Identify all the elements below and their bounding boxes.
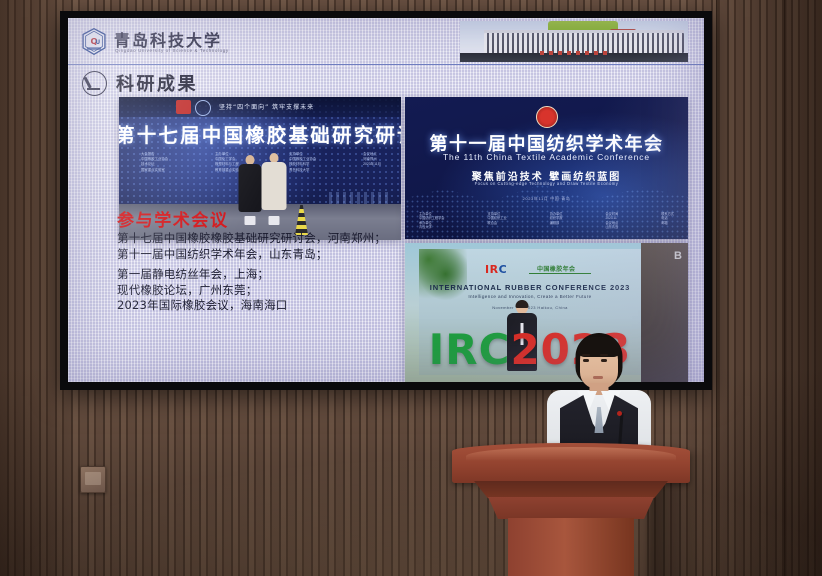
irc-logo: IRC xyxy=(485,263,507,276)
irc-pillar-label: B xyxy=(674,250,682,262)
header-divider xyxy=(68,64,704,65)
textile-society-seal xyxy=(536,106,558,128)
projection-screen: Q U 青岛科技大学 Qingdao University of Science… xyxy=(68,18,704,382)
textile-date: 2023年11月 中国·青岛 xyxy=(405,196,688,202)
section-title: 科研成果 xyxy=(116,70,198,96)
symposium-badge-seal-icon xyxy=(195,100,211,116)
textile-title-en: The 11th China Textile Academic Conferen… xyxy=(405,152,688,162)
badge-pin-icon xyxy=(617,411,622,416)
attendee-figure xyxy=(261,153,286,225)
symposium-badge-red-icon xyxy=(176,100,191,114)
university-name-en: Qingdao University of Science & Technolo… xyxy=(115,48,229,53)
slide-header: Q U 青岛科技大学 Qingdao University of Science… xyxy=(68,18,704,65)
irc-conference-title: INTERNATIONAL RUBBER CONFERENCE 2023 xyxy=(419,283,641,292)
university-crest-logo: Q U xyxy=(81,28,107,55)
symposium-slogan: 坚持“四个面向” 筑牢支撑未来 xyxy=(219,102,314,111)
svg-text:U: U xyxy=(96,40,101,46)
list-item: 2023年国际橡胶会议，海南海口 xyxy=(117,298,407,314)
attendee-figure xyxy=(238,155,261,225)
symposium-banner-title: 第十七届中国橡胶基础研究研讨会 xyxy=(119,119,401,148)
textile-banner-columns: 主办单位中国纺织工程学会承办单位青岛大学 支持单位中国纺织工业联合会 协办单位纺… xyxy=(419,212,674,230)
list-item: 第十七届中国橡胶橡胶基础研究研讨会，河南郑州； xyxy=(117,231,407,247)
photo-textile-conference: 第十一届中国纺织学术年会 The 11th China Textile Acad… xyxy=(405,97,688,239)
list-item: 第十一届中国纺织学术年会，山东青岛； xyxy=(117,247,407,263)
conference-list-heading: 参与学术会议 xyxy=(117,206,229,231)
conference-room-scene: Q U 青岛科技大学 Qingdao University of Science… xyxy=(0,0,822,576)
pen-in-circle-icon xyxy=(82,71,107,96)
list-item: 现代橡胶论坛，广州东莞； xyxy=(117,283,407,299)
wooden-podium xyxy=(452,443,690,576)
textile-theme-en: Focus on Cutting-edge Technology and Dra… xyxy=(405,181,688,186)
conference-list: 第十七届中国橡胶橡胶基础研究研讨会，河南郑州； 第十一届中国纺织学术年会，山东青… xyxy=(117,231,407,314)
irc-cohost-label: 中国橡胶年会 xyxy=(537,264,575,273)
irc-conference-subtitle: Intelligence and Innovation, Create a Be… xyxy=(419,294,641,299)
section-title-row: 科研成果 xyxy=(82,70,198,96)
campus-building-photo xyxy=(460,21,688,62)
list-item: 第一届静电纺丝年会，上海； xyxy=(117,267,407,283)
